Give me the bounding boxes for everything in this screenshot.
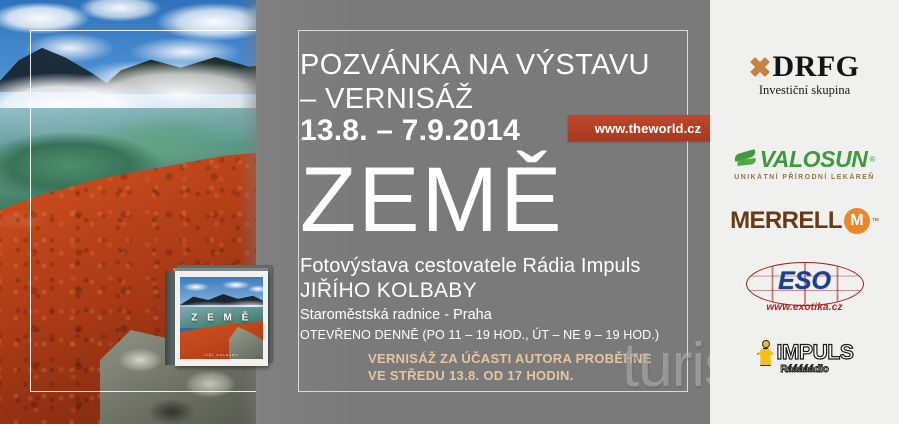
m-circle-icon: M: [844, 208, 870, 234]
exhibition-poster: Z E M Ě JIŘÍ KOLBABA POZVÁNKA NA VÝSTAVU…: [0, 0, 899, 424]
x-cross-icon: [750, 57, 770, 77]
book-mockup: Z E M Ě JIŘÍ KOLBABA: [165, 265, 275, 367]
eso-name: ESO: [746, 267, 864, 296]
book-cover-clouds: [180, 281, 263, 295]
website-banner[interactable]: www.theworld.cz: [568, 115, 728, 141]
sponsor-logo-merrell[interactable]: MERRELL M ™: [710, 207, 899, 235]
book-cover-photo: Z E M Ě JIŘÍ KOLBABA: [180, 277, 263, 359]
subtitle-line-2: JIŘÍHO KOLBABY: [300, 279, 477, 303]
eso-url: www.exotika.cz: [746, 302, 864, 313]
sponsor-logo-eso[interactable]: ESO www.exotika.cz: [710, 258, 899, 314]
vernissage-note: VERNISÁŽ ZA ÚČASTI AUTORA PROBĚHNE VE ST…: [368, 350, 652, 384]
merrell-name: MERRELL: [730, 207, 842, 235]
book-cover-title: Z E M Ě: [180, 313, 263, 324]
impuls-tagline: Rááááádio: [710, 364, 899, 375]
sponsor-column: DRFG Investiční skupina VALOSUN ® UNIKÁT…: [710, 0, 899, 424]
invitation-heading: POZVÁNKA NA VÝSTAVU – VERNISÁŽ: [300, 48, 650, 116]
drfg-name: DRFG: [773, 52, 860, 82]
subtitle-line-1: Fotovýstava cestovatele Rádia Impuls: [300, 255, 640, 278]
registered-mark: ®: [870, 155, 876, 164]
sponsor-logo-drfg[interactable]: DRFG Investiční skupina: [710, 52, 899, 98]
valosun-tagline: UNIKÁTNÍ PŘÍRODNÍ LEKÁREŇ: [710, 174, 899, 181]
drfg-tagline: Investiční skupina: [710, 83, 899, 98]
exhibition-dates: 13.8. – 7.9.2014: [300, 114, 520, 148]
valosun-name: VALOSUN: [760, 146, 868, 173]
poster-title: ZEMĚ: [300, 150, 564, 250]
sponsor-logo-impuls[interactable]: IMPULS Rááááádio: [710, 340, 899, 375]
book-cover-subtitle: JIŘÍ KOLBABA: [180, 353, 263, 357]
sponsor-logo-valosun[interactable]: VALOSUN ® UNIKÁTNÍ PŘÍRODNÍ LEKÁREŇ: [710, 146, 899, 181]
impuls-name: IMPULS: [777, 341, 854, 365]
leaf-icon: [734, 152, 758, 168]
book-front-cover: Z E M Ě JIŘÍ KOLBABA: [175, 271, 268, 366]
venue-text: Staroměstská radnice - Praha: [300, 307, 492, 323]
person-icon: [756, 340, 776, 366]
trademark-mark: ™: [872, 218, 879, 225]
opening-hours-text: OTEVŘENO DENNĚ (PO 11 – 19 HOD., ÚT – NE…: [300, 328, 659, 342]
